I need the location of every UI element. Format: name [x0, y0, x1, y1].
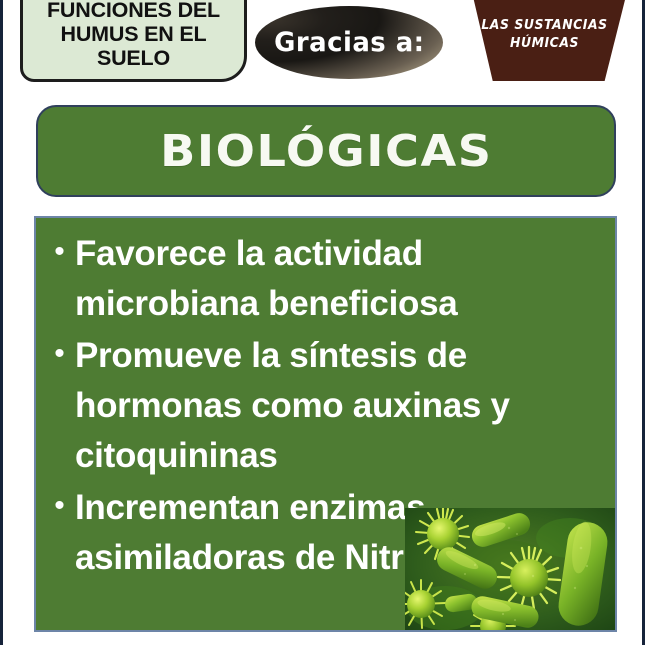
list-item-text: Favorece la actividad microbiana benefic…: [75, 229, 530, 329]
section-header-bar: BIOLÓGICAS: [36, 105, 616, 197]
top-row: FUNCIONES DEL HUMUS EN EL SUELO Gracias …: [3, 0, 645, 95]
bacteria-illustration-svg: [405, 508, 616, 632]
title-card-label: FUNCIONES DEL HUMUS EN EL SUELO: [29, 0, 238, 70]
connector-ellipse: Gracias a:: [255, 6, 443, 79]
bullet-dot-icon: •: [44, 229, 75, 275]
bacteria-microbes-photo: [405, 508, 616, 632]
source-trapezoid-label: LAS SUSTANCIAS HÚMICAS: [468, 17, 622, 53]
list-item: • Promueve la síntesis de hormonas como …: [44, 331, 605, 481]
slide-canvas: FUNCIONES DEL HUMUS EN EL SUELO Gracias …: [0, 0, 645, 645]
content-box: • Favorece la actividad microbiana benef…: [34, 216, 617, 632]
list-item-text: Promueve la síntesis de hormonas como au…: [75, 331, 530, 481]
list-item: • Favorece la actividad microbiana benef…: [44, 229, 605, 329]
source-trapezoid: LAS SUSTANCIAS HÚMICAS: [461, 0, 628, 81]
title-card: FUNCIONES DEL HUMUS EN EL SUELO: [20, 0, 247, 82]
connector-label: Gracias a:: [274, 27, 424, 58]
section-header-label: BIOLÓGICAS: [160, 126, 493, 177]
bullet-dot-icon: •: [44, 483, 75, 529]
bullet-dot-icon: •: [44, 331, 75, 377]
